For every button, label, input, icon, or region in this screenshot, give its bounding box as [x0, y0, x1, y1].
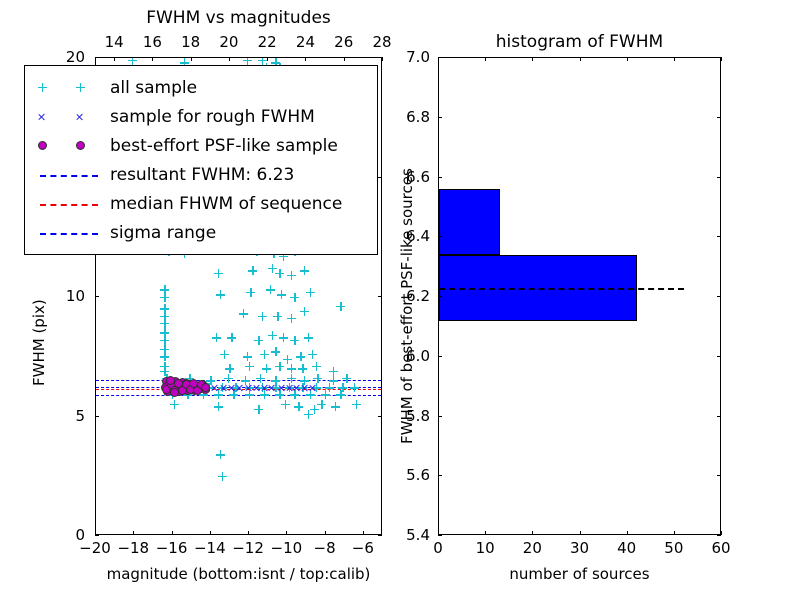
scatter-point — [216, 450, 225, 459]
histogram-x-tick-label: 50 — [664, 539, 683, 557]
scatter-plot-legend: all samplesample for rough FWHMbest-effo… — [24, 65, 378, 255]
scatter-point — [225, 364, 234, 373]
scatter-point — [283, 355, 292, 364]
axis-tick — [717, 57, 721, 58]
legend-item-label: all sample — [110, 78, 197, 98]
axis-tick — [438, 416, 442, 417]
scatter-point — [275, 390, 284, 399]
axis-tick — [229, 57, 230, 61]
axis-tick — [114, 57, 115, 61]
scatter-point — [229, 390, 238, 399]
scatter-point — [268, 384, 276, 392]
axis-tick — [717, 475, 721, 476]
scatter-point — [308, 384, 316, 392]
cross-icon — [38, 113, 46, 121]
axis-tick — [325, 531, 326, 535]
scatter-point — [290, 336, 299, 345]
axis-tick — [438, 177, 442, 178]
legend-marker-dashed-line-icon — [32, 189, 110, 218]
axis-tick — [717, 356, 721, 357]
scatter-point — [277, 290, 286, 299]
scatter-point — [260, 350, 269, 359]
legend-item: all sample — [32, 73, 368, 102]
histogram-x-axis-label: number of sources — [438, 565, 721, 583]
scatter-point — [300, 307, 309, 316]
scatter-point — [243, 352, 252, 361]
scatter-point — [254, 405, 263, 414]
axis-tick — [378, 416, 382, 417]
scatter-point — [329, 367, 338, 376]
scatter-point — [352, 400, 361, 409]
scatter-point — [214, 390, 223, 399]
scatter-point — [248, 266, 257, 275]
scatter-point — [287, 374, 296, 383]
histogram-x-tick-label: 30 — [570, 539, 589, 557]
scatter-x-tick-label: −8 — [314, 539, 336, 557]
axis-tick — [717, 535, 721, 536]
histogram-x-tick-label: 20 — [523, 539, 542, 557]
scatter-point — [313, 374, 322, 383]
axis-tick — [717, 296, 721, 297]
legend-item: sigma range — [32, 218, 368, 247]
scatter-point — [170, 388, 179, 397]
axis-tick — [382, 57, 383, 61]
legend-item: median FHWM of sequence — [32, 189, 368, 218]
scatter-point — [214, 269, 223, 278]
scatter-point — [294, 402, 303, 411]
scatter-y-axis-label: FWHM (pix) — [30, 299, 48, 386]
scatter-point — [211, 384, 219, 392]
scatter-point — [245, 390, 254, 399]
axis-tick — [717, 236, 721, 237]
cross-icon — [76, 113, 84, 121]
scatter-x-tick-label: −12 — [232, 539, 264, 557]
histogram-reference-line — [439, 288, 684, 290]
scatter-point — [298, 364, 307, 373]
legend-marker-plus-icon — [32, 73, 110, 102]
scatter-top-tick-label: 14 — [105, 33, 124, 51]
histogram-y-tick-label: 5.6 — [406, 466, 430, 484]
axis-tick — [438, 296, 442, 297]
legend-item-label: resultant FWHM: 6.23 — [110, 165, 294, 185]
scatter-point — [245, 362, 254, 371]
axis-tick — [580, 57, 581, 61]
histogram-x-tick-label: 0 — [433, 539, 443, 557]
axis-tick — [378, 535, 382, 536]
histogram-x-tick-label: 60 — [711, 539, 730, 557]
scatter-point — [160, 352, 169, 361]
axis-tick — [438, 57, 442, 58]
histogram-axes — [438, 57, 721, 535]
scatter-x-tick-label: −6 — [352, 539, 374, 557]
axis-tick — [152, 57, 153, 61]
scatter-point — [268, 331, 277, 340]
axis-tick — [172, 531, 173, 535]
axis-tick — [717, 117, 721, 118]
scatter-point — [227, 333, 236, 342]
scatter-top-tick-label: 18 — [181, 33, 200, 51]
dash-dot-line-icon — [40, 233, 98, 235]
scatter-point — [260, 390, 269, 399]
scatter-plot-title: FWHM vs magnitudes — [95, 8, 382, 28]
histogram-y-tick-label: 6.8 — [406, 108, 430, 126]
scatter-point — [273, 312, 282, 321]
legend-item-label: median FHWM of sequence — [110, 194, 342, 214]
scatter-point — [246, 288, 255, 297]
scatter-point — [256, 374, 265, 383]
scatter-y-tick-label: 10 — [66, 287, 85, 305]
scatter-point — [224, 374, 233, 383]
axis-tick — [627, 57, 628, 61]
axis-tick — [363, 531, 364, 535]
axis-tick — [344, 57, 345, 61]
axis-tick — [674, 57, 675, 61]
axis-tick — [267, 57, 268, 61]
axis-tick — [532, 531, 533, 535]
scatter-point — [306, 288, 315, 297]
scatter-point — [306, 390, 315, 399]
axis-tick — [580, 531, 581, 535]
axis-tick — [627, 531, 628, 535]
axis-tick — [438, 117, 442, 118]
axis-tick — [210, 531, 211, 535]
circle-icon — [76, 141, 85, 150]
axis-tick — [133, 531, 134, 535]
axis-tick — [248, 531, 249, 535]
legend-item: best-effort PSF-like sample — [32, 131, 368, 160]
axis-tick — [95, 57, 99, 58]
scatter-top-tick-label: 26 — [334, 33, 353, 51]
scatter-point — [275, 362, 284, 371]
scatter-point — [287, 314, 296, 323]
scatter-point — [239, 309, 248, 318]
scatter-point — [312, 362, 321, 371]
scatter-point — [258, 312, 267, 321]
scatter-x-axis-label: magnitude (bottom:isnt / top:calib) — [95, 565, 382, 583]
legend-item: resultant FWHM: 6.23 — [32, 160, 368, 189]
histogram-y-tick-label: 7.0 — [406, 48, 430, 66]
scatter-point — [336, 390, 345, 399]
axis-tick — [95, 535, 99, 536]
scatter-point — [218, 472, 227, 481]
scatter-top-tick-label: 16 — [143, 33, 162, 51]
scatter-point — [160, 319, 169, 328]
scatter-point — [331, 402, 340, 411]
scatter-point — [266, 285, 275, 294]
scatter-point — [271, 347, 280, 356]
scatter-point — [287, 271, 296, 280]
scatter-point — [296, 352, 305, 361]
legend-marker-circle-icon — [32, 131, 110, 160]
scatter-point — [317, 400, 326, 409]
legend-item-label: best-effort PSF-like sample — [110, 136, 338, 156]
histogram-bars — [439, 58, 720, 534]
scatter-point — [160, 336, 169, 345]
scatter-point — [275, 269, 284, 278]
scatter-y-tick-label: 0 — [75, 526, 85, 544]
axis-tick — [438, 475, 442, 476]
scatter-point — [321, 390, 330, 399]
histogram-title: histogram of FWHM — [438, 32, 721, 52]
scatter-x-tick-label: −14 — [194, 539, 226, 557]
scatter-top-tick-label: 28 — [372, 33, 391, 51]
histogram-y-axis-label: FWHM of best-effort PSF-like sources — [398, 168, 416, 444]
scatter-y-tick-label: 5 — [75, 407, 85, 425]
scatter-point — [281, 400, 290, 409]
axis-tick — [674, 531, 675, 535]
scatter-point — [304, 333, 313, 342]
scatter-point — [243, 58, 252, 65]
scatter-point — [236, 384, 244, 392]
histogram-x-tick-label: 10 — [476, 539, 495, 557]
plus-icon — [76, 83, 85, 92]
axis-tick — [95, 296, 99, 297]
histogram-bar — [439, 189, 500, 255]
scatter-point — [342, 374, 351, 383]
axis-tick — [305, 57, 306, 61]
axis-tick — [286, 531, 287, 535]
scatter-x-tick-label: −16 — [156, 539, 188, 557]
scatter-point — [287, 364, 296, 373]
matplotlib-figure: FWHM vs magnitudes −20−18−16−14−12−10−8−… — [0, 0, 800, 600]
scatter-y-tick-label: 20 — [66, 48, 85, 66]
axis-tick — [717, 177, 721, 178]
axis-tick — [485, 57, 486, 61]
scatter-point — [336, 302, 345, 311]
scatter-point — [279, 333, 288, 342]
scatter-point — [170, 400, 179, 409]
scatter-top-tick-label: 24 — [296, 33, 315, 51]
scatter-point — [128, 58, 137, 65]
scatter-point — [216, 290, 225, 299]
scatter-x-tick-label: −18 — [117, 539, 149, 557]
legend-item-label: sample for rough FWHM — [110, 107, 315, 127]
histogram-x-tick-label: 40 — [617, 539, 636, 557]
scatter-point — [214, 402, 223, 411]
axis-tick — [438, 356, 442, 357]
circle-icon — [38, 141, 47, 150]
scatter-x-tick-label: −10 — [271, 539, 303, 557]
legend-marker-dash-dot-line-icon — [32, 218, 110, 247]
scatter-point — [262, 364, 271, 373]
scatter-point — [160, 293, 169, 302]
scatter-point — [212, 333, 221, 342]
axis-tick — [378, 177, 382, 178]
scatter-top-tick-label: 20 — [219, 33, 238, 51]
axis-tick — [438, 535, 442, 536]
axis-tick — [438, 236, 442, 237]
scatter-point — [290, 293, 299, 302]
scatter-point — [300, 266, 309, 275]
axis-tick — [378, 57, 382, 58]
legend-item: sample for rough FWHM — [32, 102, 368, 131]
histogram-y-tick-label: 5.4 — [406, 526, 430, 544]
axis-tick — [721, 531, 722, 535]
axis-tick — [378, 296, 382, 297]
plus-icon — [38, 83, 47, 92]
legend-marker-cross-icon — [32, 102, 110, 131]
legend-item-label: sigma range — [110, 223, 216, 243]
axis-tick — [485, 531, 486, 535]
axis-tick — [717, 416, 721, 417]
dashed-line-icon — [40, 204, 98, 206]
scatter-point — [220, 350, 229, 359]
scatter-point — [350, 383, 359, 392]
scatter-point — [290, 390, 299, 399]
axis-tick — [95, 416, 99, 417]
scatter-top-tick-label: 22 — [258, 33, 277, 51]
axis-tick — [532, 57, 533, 61]
scatter-point — [254, 336, 263, 345]
dashed-line-icon — [40, 175, 98, 177]
legend-marker-dashed-line-icon — [32, 160, 110, 189]
axis-tick — [191, 57, 192, 61]
scatter-point — [308, 350, 317, 359]
axis-tick — [721, 57, 722, 61]
